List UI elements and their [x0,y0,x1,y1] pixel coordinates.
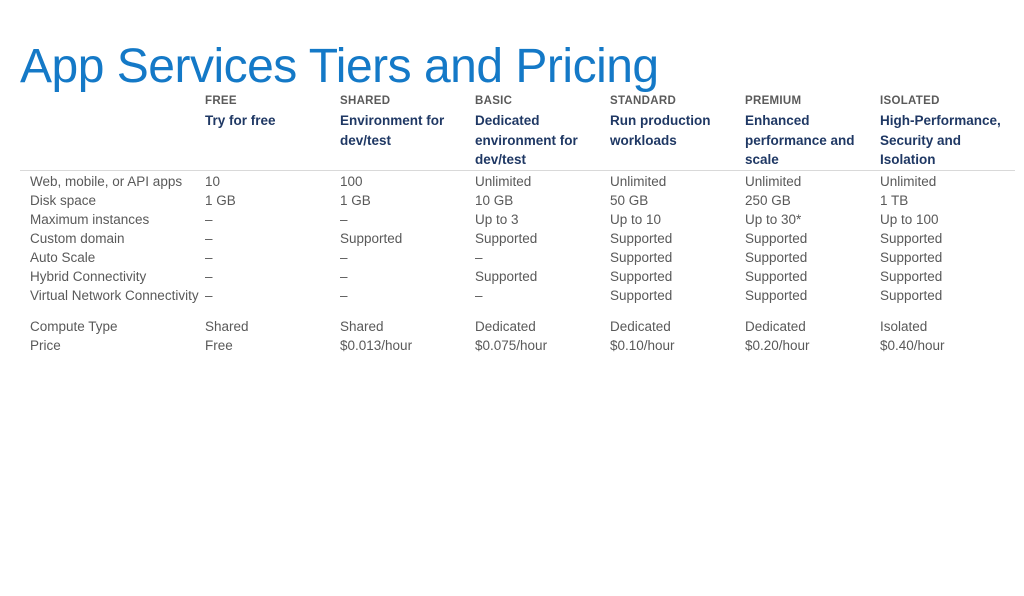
table-row: Disk space 1 GB 1 GB 10 GB 50 GB 250 GB … [20,191,1015,210]
row-label: Web, mobile, or API apps [20,172,205,191]
tier-description-isolated: High-Performance, Security and Isolation [880,111,1015,170]
column-header-standard: STANDARD Run production workloads [610,92,745,170]
table-row: Price Free $0.013/hour $0.075/hour $0.10… [20,336,1015,355]
cell-shared: Supported [340,229,475,248]
cell-basic: $0.075/hour [475,336,610,355]
cell-free: – [205,267,340,286]
tiers-pricing-table: FREE Try for free SHARED Environment for… [20,92,1015,355]
column-header-premium: PREMIUM Enhanced performance and scale [745,92,880,170]
cell-standard: Supported [610,267,745,286]
cell-basic: Dedicated [475,317,610,336]
row-label: Auto Scale [20,248,205,267]
tier-name-shared: SHARED [340,92,475,111]
cell-free: – [205,286,340,317]
cell-standard: Supported [610,248,745,267]
cell-shared: $0.013/hour [340,336,475,355]
row-label: Maximum instances [20,210,205,229]
table-row: Web, mobile, or API apps 10 100 Unlimite… [20,172,1015,191]
table-row: Auto Scale – – – Supported Supported Sup… [20,248,1015,267]
cell-shared: – [340,286,475,317]
cell-basic: Unlimited [475,172,610,191]
cell-isolated: Supported [880,286,1015,317]
cell-isolated: Supported [880,267,1015,286]
table-row: Hybrid Connectivity – – Supported Suppor… [20,267,1015,286]
column-header-feature [20,92,205,170]
cell-standard: Unlimited [610,172,745,191]
cell-premium: Supported [745,286,880,317]
row-label: Disk space [20,191,205,210]
cell-standard: Up to 10 [610,210,745,229]
cell-free: – [205,248,340,267]
tier-name-isolated: ISOLATED [880,92,1015,111]
tier-name-free: FREE [205,92,340,111]
cell-free: Shared [205,317,340,336]
table-row: Virtual Network Connectivity – – – Suppo… [20,286,1015,317]
cell-standard: Dedicated [610,317,745,336]
cell-premium: Supported [745,229,880,248]
cell-free: 10 [205,172,340,191]
column-header-isolated: ISOLATED High-Performance, Security and … [880,92,1015,170]
cell-isolated: Supported [880,248,1015,267]
cell-isolated: 1 TB [880,191,1015,210]
row-label: Virtual Network Connectivity [20,286,205,317]
cell-shared: Shared [340,317,475,336]
row-label: Hybrid Connectivity [20,267,205,286]
cell-basic: Supported [475,267,610,286]
cell-isolated: Unlimited [880,172,1015,191]
row-label: Custom domain [20,229,205,248]
cell-shared: – [340,267,475,286]
column-header-basic: BASIC Dedicated environment for dev/test [475,92,610,170]
cell-free: – [205,210,340,229]
tier-description-shared: Environment for dev/test [340,111,475,150]
column-header-free: FREE Try for free [205,92,340,170]
cell-isolated: Isolated [880,317,1015,336]
cell-premium: Unlimited [745,172,880,191]
cell-premium: Dedicated [745,317,880,336]
cell-free: Free [205,336,340,355]
cell-isolated: Supported [880,229,1015,248]
slide-canvas: App Services Tiers and Pricing FREE Try … [0,0,1024,596]
cell-free: – [205,229,340,248]
cell-premium: Supported [745,267,880,286]
tier-description-basic: Dedicated environment for dev/test [475,111,610,170]
cell-premium: Up to 30* [745,210,880,229]
cell-free: 1 GB [205,191,340,210]
cell-standard: $0.10/hour [610,336,745,355]
cell-premium: 250 GB [745,191,880,210]
tier-name-standard: STANDARD [610,92,745,111]
tier-name-premium: PREMIUM [745,92,880,111]
cell-isolated: Up to 100 [880,210,1015,229]
cell-shared: 1 GB [340,191,475,210]
cell-basic: Up to 3 [475,210,610,229]
cell-shared: – [340,248,475,267]
row-label: Compute Type [20,317,205,336]
column-header-shared: SHARED Environment for dev/test [340,92,475,170]
table-header: FREE Try for free SHARED Environment for… [20,92,1015,172]
page-title: App Services Tiers and Pricing [20,34,659,100]
cell-basic: Supported [475,229,610,248]
tier-description-premium: Enhanced performance and scale [745,111,880,170]
cell-basic: – [475,286,610,317]
table-row: Maximum instances – – Up to 3 Up to 10 U… [20,210,1015,229]
cell-basic: 10 GB [475,191,610,210]
table-row: Custom domain – Supported Supported Supp… [20,229,1015,248]
cell-isolated: $0.40/hour [880,336,1015,355]
cell-basic: – [475,248,610,267]
tier-description-standard: Run production workloads [610,111,745,150]
cell-shared: – [340,210,475,229]
tier-description-free: Try for free [205,111,340,131]
cell-shared: 100 [340,172,475,191]
table-row: Compute Type Shared Shared Dedicated Ded… [20,317,1015,336]
cell-premium: Supported [745,248,880,267]
cell-premium: $0.20/hour [745,336,880,355]
cell-standard: Supported [610,229,745,248]
cell-standard: 50 GB [610,191,745,210]
cell-standard: Supported [610,286,745,317]
row-label: Price [20,336,205,355]
table-body: Web, mobile, or API apps 10 100 Unlimite… [20,172,1015,355]
tier-name-basic: BASIC [475,92,610,111]
table-header-row: FREE Try for free SHARED Environment for… [20,92,1015,170]
